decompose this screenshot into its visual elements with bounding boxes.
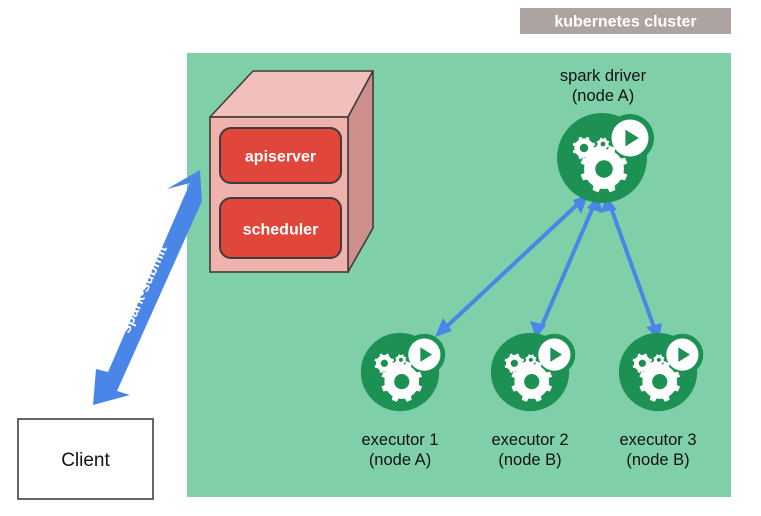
executor-1-label-line2: (node A)	[369, 451, 431, 469]
executor-3-label-line1: executor 3	[619, 431, 696, 449]
apiserver-label: apiserver	[245, 149, 316, 166]
executor-3-label-line2: (node B)	[626, 451, 689, 469]
executor-2-label-line1: executor 2	[491, 431, 568, 449]
spark-driver-label-line2: (node A)	[572, 87, 634, 105]
cluster-badge-label: kubernetes cluster	[554, 14, 696, 31]
scheduler-label: scheduler	[243, 222, 319, 239]
executor-2-label-line2: (node B)	[498, 451, 561, 469]
executor-1-label-line1: executor 1	[361, 431, 438, 449]
control-plane-cube: apiserver scheduler	[210, 71, 373, 272]
diagram-canvas: kubernetes cluster apiserver scheduler s…	[0, 0, 761, 516]
client-label: Client	[61, 450, 110, 471]
client-node[interactable]: Client	[18, 419, 153, 499]
spark-driver-label-line1: spark driver	[560, 67, 647, 85]
